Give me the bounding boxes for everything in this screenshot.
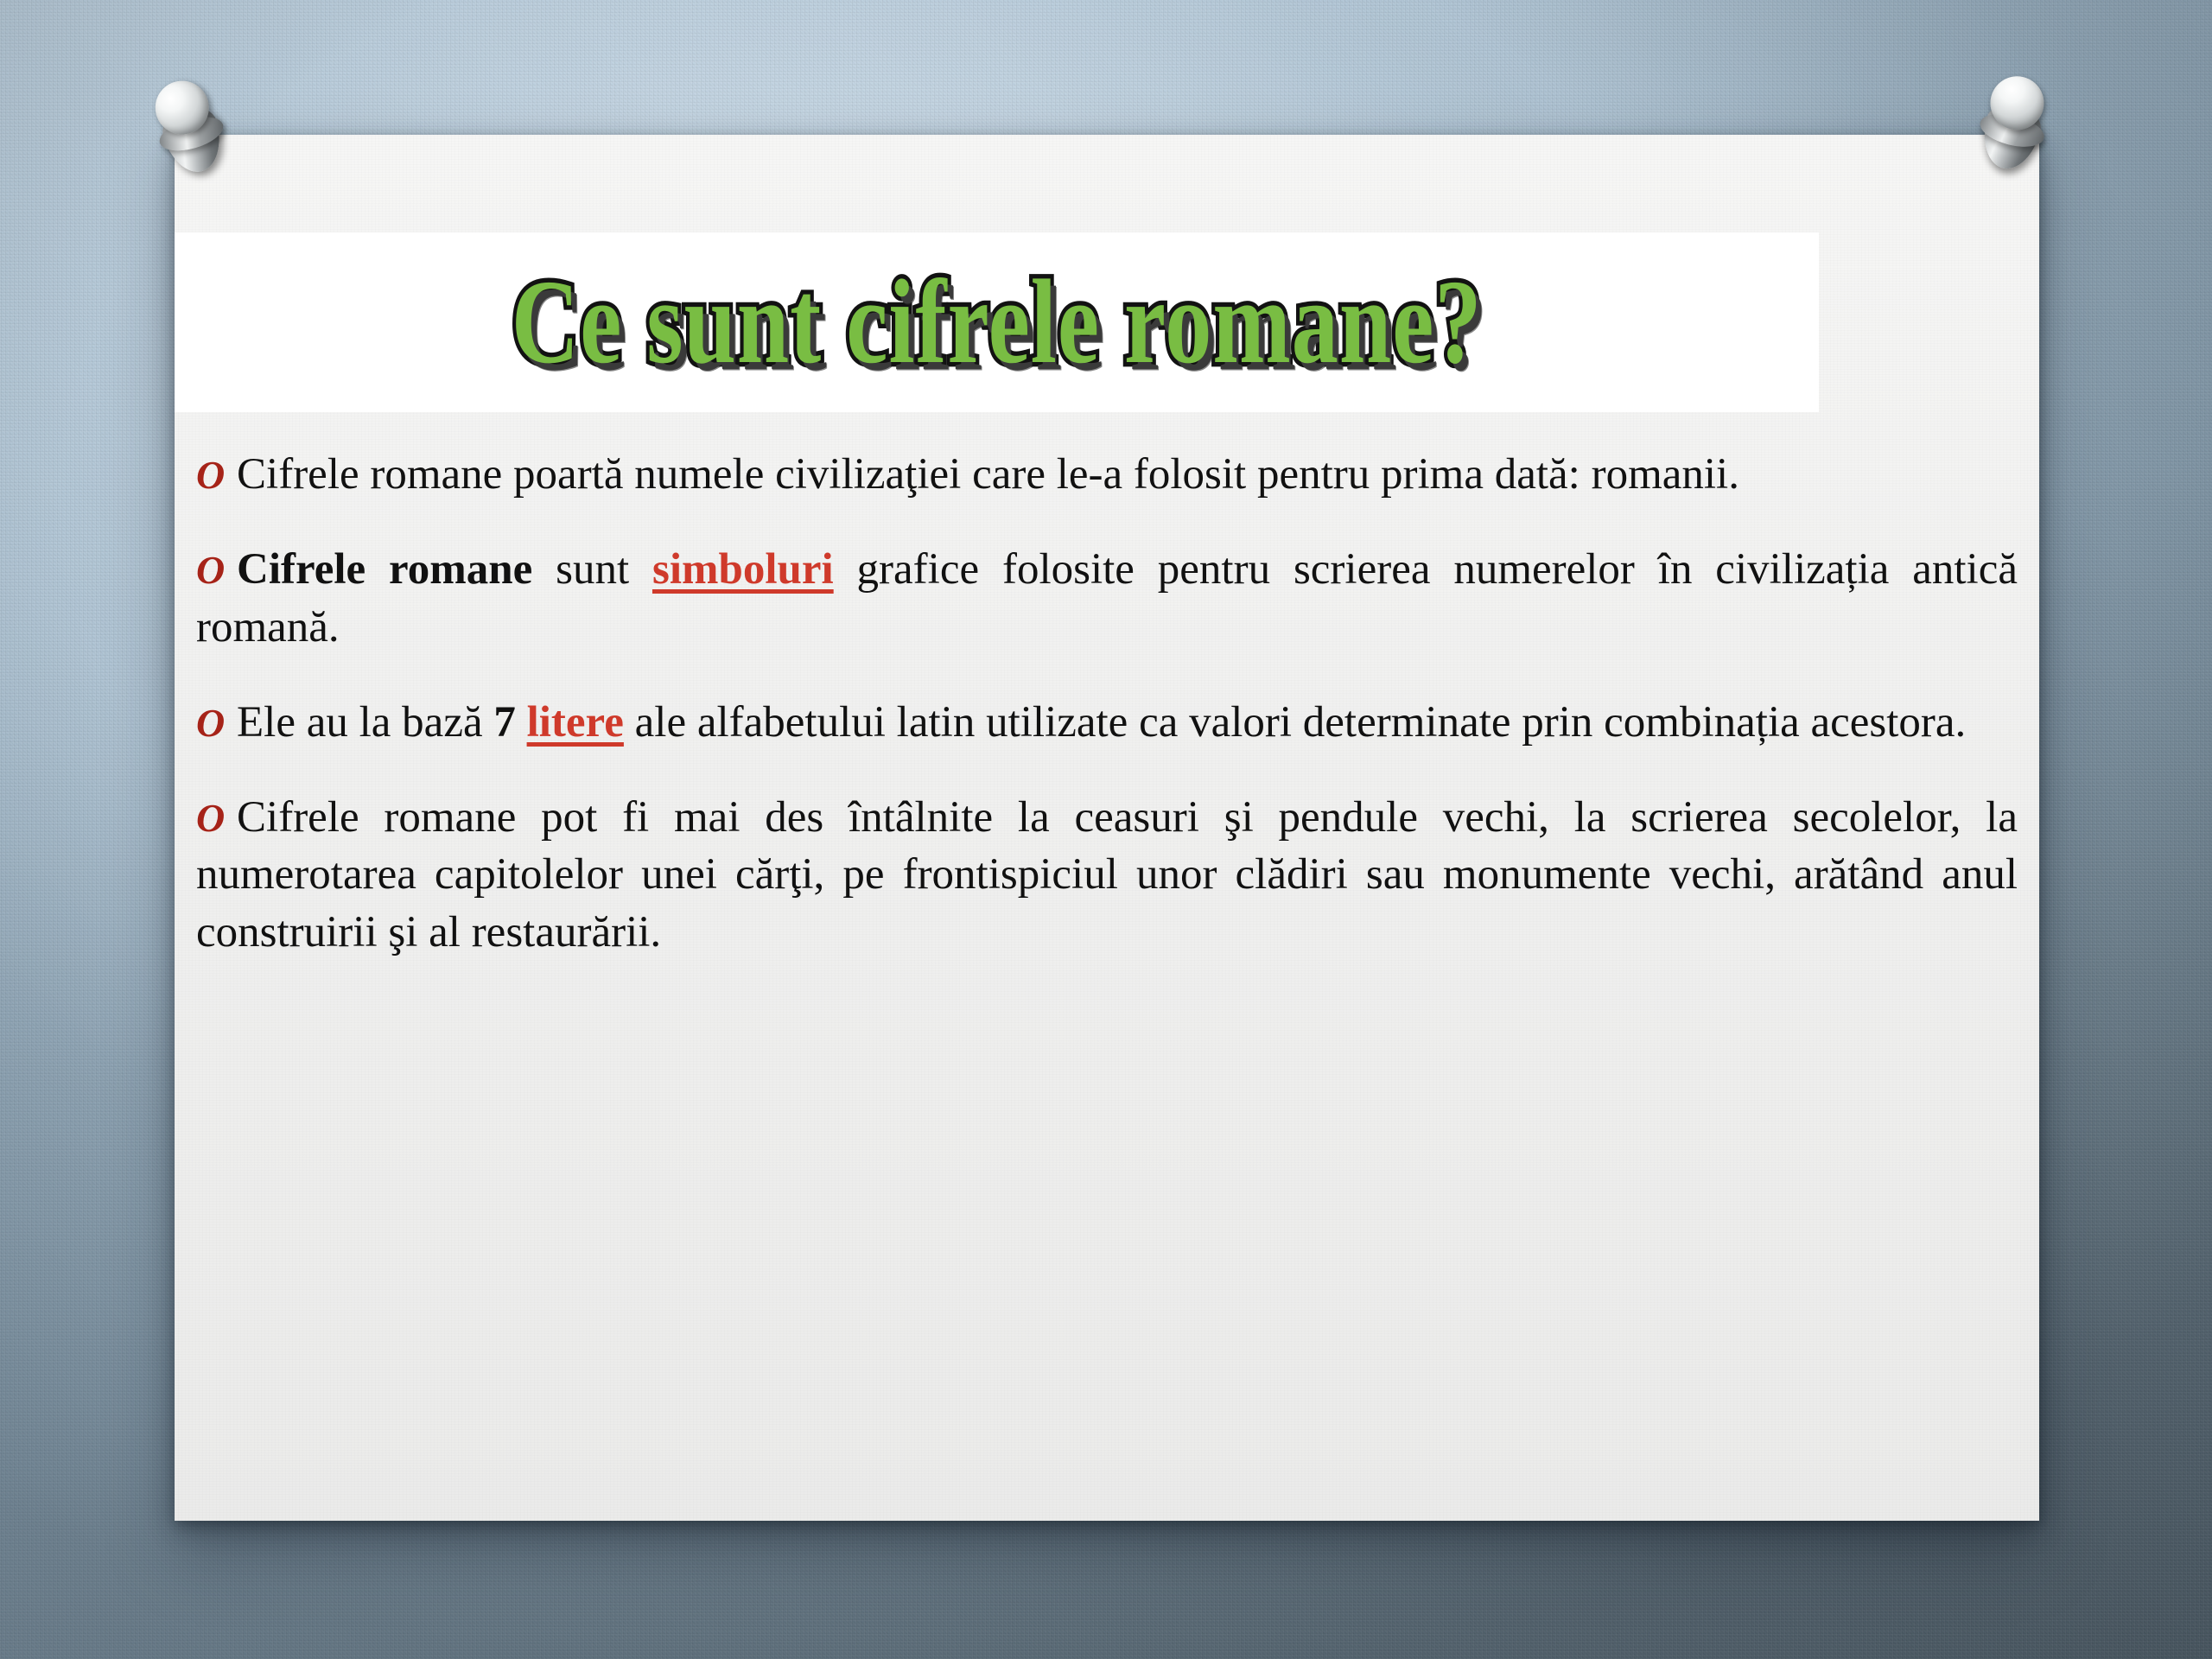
page-title: Ce sunt cifrele romane? [512,262,1483,382]
corkboard-background: Ce sunt cifrele romane? OCifrele romane … [0,0,2212,1659]
bullet-marker-icon: O [196,701,237,745]
bullet-text-2-run-0: Cifrele romane [237,545,532,594]
bullet-text-3-run-0: Ele au la bază [237,698,493,747]
bullet-paragraph-4: OCifrele romane pot fi mai des întâlnite… [196,789,2018,961]
bullet-text-3-highlight: litere [527,698,624,747]
slide-paper-card: Ce sunt cifrele romane? OCifrele romane … [175,135,2039,1521]
bullet-text-2-run-1: sunt [532,545,652,594]
bullet-text-4: Cifrele romane pot fi mai des întâlnite … [196,793,2018,957]
bullet-paragraph-1: OCifrele romane poartă numele civilizaţi… [196,446,2018,503]
bullet-text-3-space [516,698,527,747]
bullet-paragraph-2: OCifrele romane sunt simboluri grafice f… [196,541,2018,656]
pin-head [1985,71,2050,136]
bullet-marker-icon: O [196,796,237,840]
bullet-marker-icon: O [196,453,237,497]
bullet-text-3-run-4: ale alfabetului latin utilizate ca valor… [624,698,1966,747]
title-banner: Ce sunt cifrele romane? [175,232,1819,412]
bullet-text-3-number: 7 [493,698,516,747]
bullet-marker-icon: O [196,548,237,592]
bullet-text-1: Cifrele romane poartă numele civilizaţie… [237,450,1739,499]
slide-body: OCifrele romane poartă numele civilizaţi… [196,446,2018,961]
pin-head [149,74,215,141]
bullet-text-2-highlight: simboluri [652,545,834,594]
bullet-paragraph-3: OEle au la bază 7 litere ale alfabetului… [196,694,2018,751]
